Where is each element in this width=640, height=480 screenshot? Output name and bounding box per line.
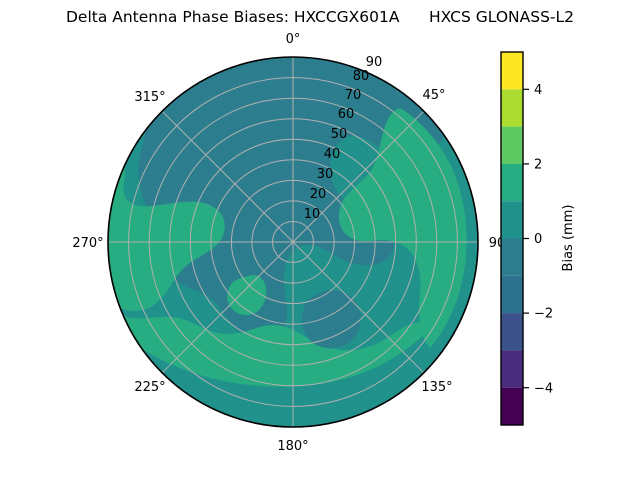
colorbar: 4 2 0 −2 −4 Bias (mm) [0, 0, 640, 480]
colorbar-tick-2: 2 [534, 158, 542, 173]
figure-canvas: Delta Antenna Phase Biases: HXCCGX601A H… [0, 0, 640, 480]
colorbar-tick-labels: 4 2 0 −2 −4 [534, 83, 553, 396]
colorbar-tick-neg2: −2 [534, 307, 553, 322]
colorbar-tick-4: 4 [534, 83, 542, 98]
colorbar-tick-neg4: −4 [534, 381, 553, 396]
colorbar-swatch-1 [501, 89, 523, 126]
colorbar-tick-0: 0 [534, 232, 542, 247]
colorbar-swatch-5 [501, 239, 523, 276]
colorbar-swatch-7 [501, 313, 523, 350]
colorbar-swatch-8 [501, 350, 523, 387]
colorbar-axis-label: Bias (mm) [561, 205, 576, 272]
colorbar-swatch-0 [501, 52, 523, 89]
colorbar-swatch-9 [501, 388, 523, 425]
colorbar-swatch-4 [501, 201, 523, 238]
colorbar-swatch-2 [501, 127, 523, 164]
colorbar-ticks [523, 89, 529, 387]
colorbar-swatch-3 [501, 164, 523, 201]
colorbar-swatches [501, 52, 523, 425]
colorbar-swatch-6 [501, 276, 523, 313]
